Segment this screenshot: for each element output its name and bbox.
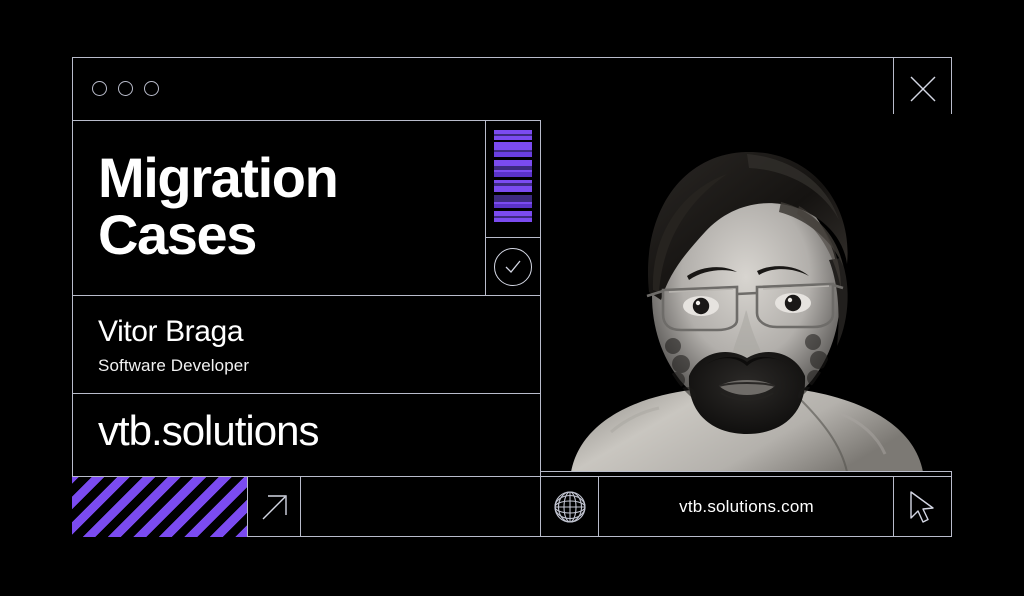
brand-block: vtb.solutions: [98, 407, 318, 455]
cursor-arrow-icon: [907, 490, 939, 524]
divider-barcode-left: [485, 121, 486, 296]
barcode-cell: [486, 114, 540, 238]
page-title: Migration Cases: [98, 149, 488, 263]
barcode-icon: [494, 130, 532, 222]
url-bar[interactable]: vtb.solutions.com: [599, 477, 894, 537]
person-block: Vitor Braga Software Developer: [98, 315, 249, 376]
close-icon: [908, 74, 938, 104]
window-dot-minimize[interactable]: [118, 81, 133, 96]
border-left: [72, 57, 73, 537]
check-circle-icon: [494, 248, 532, 286]
check-icon: [502, 256, 524, 278]
window-control-dots[interactable]: [92, 81, 159, 96]
footer-spacer: [301, 477, 540, 537]
window-dot-maximize[interactable]: [144, 81, 159, 96]
brand-name: vtb.solutions: [98, 407, 318, 455]
person-role: Software Developer: [98, 356, 249, 376]
barcode-bar: [494, 142, 532, 149]
barcode-bar: [494, 218, 532, 222]
globe-button[interactable]: [541, 477, 599, 537]
globe-icon: [552, 489, 588, 525]
divider-headline-person: [72, 295, 541, 296]
person-name: Vitor Braga: [98, 315, 249, 349]
close-button[interactable]: [894, 57, 952, 121]
close-cell-divider: [893, 57, 894, 121]
cursor-indicator[interactable]: [894, 477, 952, 537]
diagonal-stripes-swatch: [72, 477, 248, 537]
url-text: vtb.solutions.com: [679, 497, 814, 517]
divider-barcode-check: [486, 237, 541, 238]
portrait-photo: [541, 114, 952, 472]
window-dot-close[interactable]: [92, 81, 107, 96]
headline-block: Migration Cases: [98, 149, 488, 263]
check-cell[interactable]: [486, 238, 540, 295]
window-card: Migration Cases Vitor Braga Software Dev…: [72, 57, 952, 537]
divider-left-photo: [540, 121, 541, 537]
arrow-up-right-icon: [260, 492, 290, 522]
portrait-photo-graphic: [541, 114, 952, 472]
divider-photo-bottom: [540, 471, 952, 472]
title-bar: [72, 57, 952, 121]
divider-person-brand: [72, 393, 541, 394]
open-external-button[interactable]: [248, 477, 301, 537]
barcode-bar: [494, 195, 532, 202]
